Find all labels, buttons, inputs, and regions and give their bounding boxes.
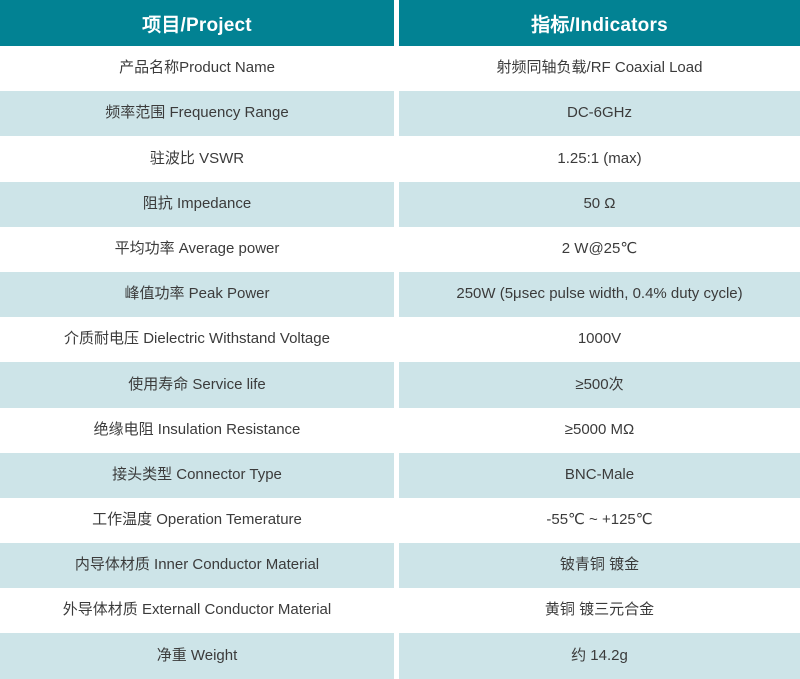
cell-indicator: ≥5000 MΩ bbox=[399, 408, 800, 453]
table-row: 介质耐电压 Dielectric Withstand Voltage1000V bbox=[0, 317, 800, 362]
table-row: 驻波比 VSWR1.25:1 (max) bbox=[0, 136, 800, 181]
cell-project: 峰值功率 Peak Power bbox=[0, 272, 394, 317]
table-header-row: 项目/Project 指标/Indicators bbox=[0, 0, 800, 46]
table-header: 项目/Project 指标/Indicators bbox=[0, 0, 800, 46]
cell-indicator: 1.25:1 (max) bbox=[399, 136, 800, 181]
cell-project: 净重 Weight bbox=[0, 633, 394, 678]
table-row: 接头类型 Connector TypeBNC-Male bbox=[0, 453, 800, 498]
table-row: 频率范围 Frequency RangeDC-6GHz bbox=[0, 91, 800, 136]
table-row: 净重 Weight约 14.2g bbox=[0, 633, 800, 678]
cell-indicator: 铍青铜 镀金 bbox=[399, 543, 800, 588]
cell-indicator: 射频同轴负载/RF Coaxial Load bbox=[399, 46, 800, 91]
cell-indicator: 1000V bbox=[399, 317, 800, 362]
table-row: 产品名称Product Name射频同轴负载/RF Coaxial Load bbox=[0, 46, 800, 91]
cell-indicator: 约 14.2g bbox=[399, 633, 800, 678]
cell-project: 工作温度 Operation Temerature bbox=[0, 498, 394, 543]
cell-project: 驻波比 VSWR bbox=[0, 136, 394, 181]
cell-indicator: 250W (5μsec pulse width, 0.4% duty cycle… bbox=[399, 272, 800, 317]
table-row: 峰值功率 Peak Power250W (5μsec pulse width, … bbox=[0, 272, 800, 317]
cell-project: 内导体材质 Inner Conductor Material bbox=[0, 543, 394, 588]
specification-table: 项目/Project 指标/Indicators 产品名称Product Nam… bbox=[0, 0, 800, 679]
cell-project: 频率范围 Frequency Range bbox=[0, 91, 394, 136]
cell-indicator: -55℃ ~ +125℃ bbox=[399, 498, 800, 543]
cell-indicator: 2 W@25℃ bbox=[399, 227, 800, 272]
cell-project: 介质耐电压 Dielectric Withstand Voltage bbox=[0, 317, 394, 362]
cell-project: 接头类型 Connector Type bbox=[0, 453, 394, 498]
column-header-project: 项目/Project bbox=[0, 0, 394, 46]
table-row: 使用寿命 Service life≥500次 bbox=[0, 362, 800, 407]
table-row: 阻抗 Impedance50 Ω bbox=[0, 182, 800, 227]
cell-project: 外导体材质 Externall Conductor Material bbox=[0, 588, 394, 633]
column-header-indicators: 指标/Indicators bbox=[399, 0, 800, 46]
cell-indicator: 黄铜 镀三元合金 bbox=[399, 588, 800, 633]
cell-project: 绝缘电阻 Insulation Resistance bbox=[0, 408, 394, 453]
cell-indicator: 50 Ω bbox=[399, 182, 800, 227]
cell-project: 使用寿命 Service life bbox=[0, 362, 394, 407]
table-row: 外导体材质 Externall Conductor Material黄铜 镀三元… bbox=[0, 588, 800, 633]
cell-indicator: DC-6GHz bbox=[399, 91, 800, 136]
table-row: 绝缘电阻 Insulation Resistance≥5000 MΩ bbox=[0, 408, 800, 453]
cell-project: 产品名称Product Name bbox=[0, 46, 394, 91]
table-row: 平均功率 Average power2 W@25℃ bbox=[0, 227, 800, 272]
cell-indicator: ≥500次 bbox=[399, 362, 800, 407]
table-body: 产品名称Product Name射频同轴负载/RF Coaxial Load频率… bbox=[0, 46, 800, 679]
cell-indicator: BNC-Male bbox=[399, 453, 800, 498]
cell-project: 平均功率 Average power bbox=[0, 227, 394, 272]
cell-project: 阻抗 Impedance bbox=[0, 182, 394, 227]
table-row: 工作温度 Operation Temerature-55℃ ~ +125℃ bbox=[0, 498, 800, 543]
table-row: 内导体材质 Inner Conductor Material铍青铜 镀金 bbox=[0, 543, 800, 588]
